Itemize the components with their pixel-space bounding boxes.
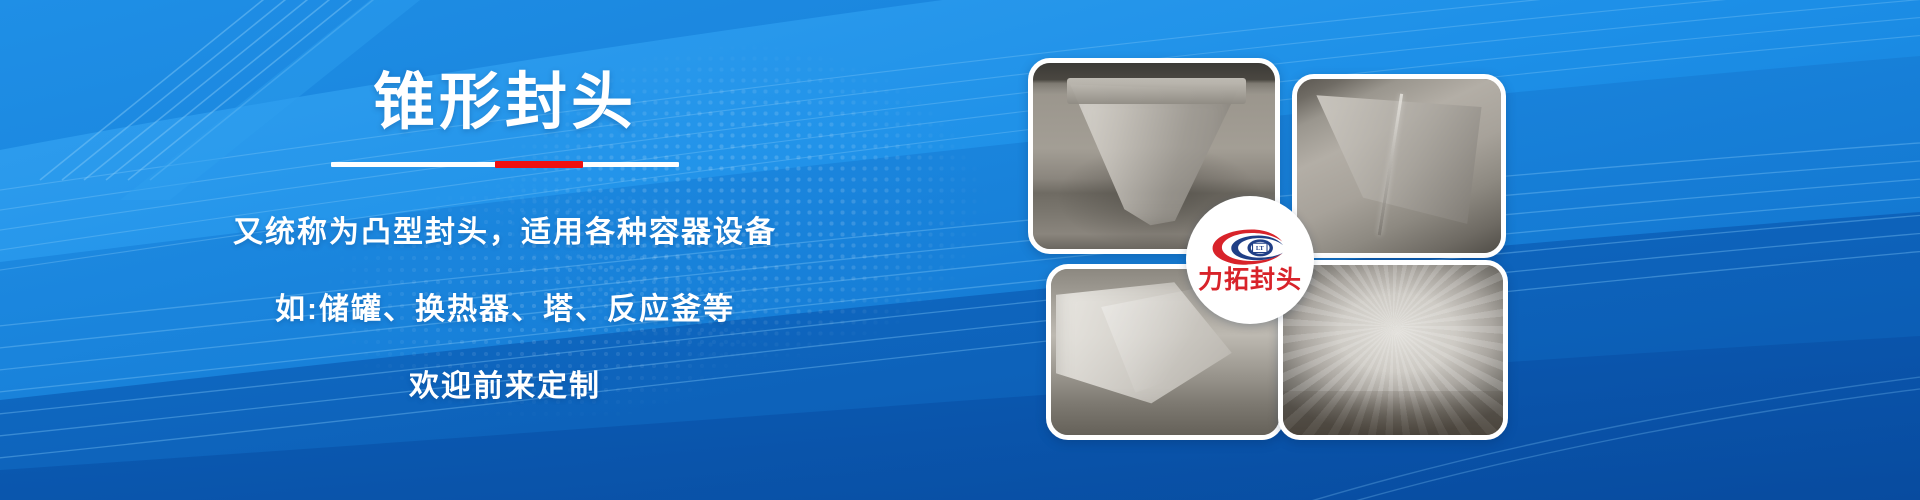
product-photo-4 [1278,260,1508,440]
product-photo-2 [1292,74,1506,258]
svg-text:LT: LT [1256,245,1265,252]
title-divider-accent [495,161,583,168]
subtitle-line-3: 欢迎前来定制 [409,361,601,405]
title-divider [331,162,679,167]
page-title: 锥形封头 [373,72,637,134]
conical-head-weld-seam-image [1297,79,1501,253]
conical-head-interior-image [1283,265,1503,435]
brand-name: 力拓封头 [1198,268,1302,293]
brand-logo-badge: LT 力拓封头 [1186,196,1314,324]
lt-swoosh-logo-icon: LT [1207,227,1293,267]
subtitle-line-2: 如:储罐、换热器、塔、反应釜等 [275,284,735,328]
subtitle-line-1: 又统称为凸型封头，适用各种容器设备 [233,207,777,251]
promo-banner: 锥形封头 又统称为凸型封头，适用各种容器设备 如:储罐、换热器、塔、反应釜等 欢… [0,0,1920,500]
banner-copy: 锥形封头 又统称为凸型封头，适用各种容器设备 如:储罐、换热器、塔、反应釜等 欢… [0,0,1010,500]
